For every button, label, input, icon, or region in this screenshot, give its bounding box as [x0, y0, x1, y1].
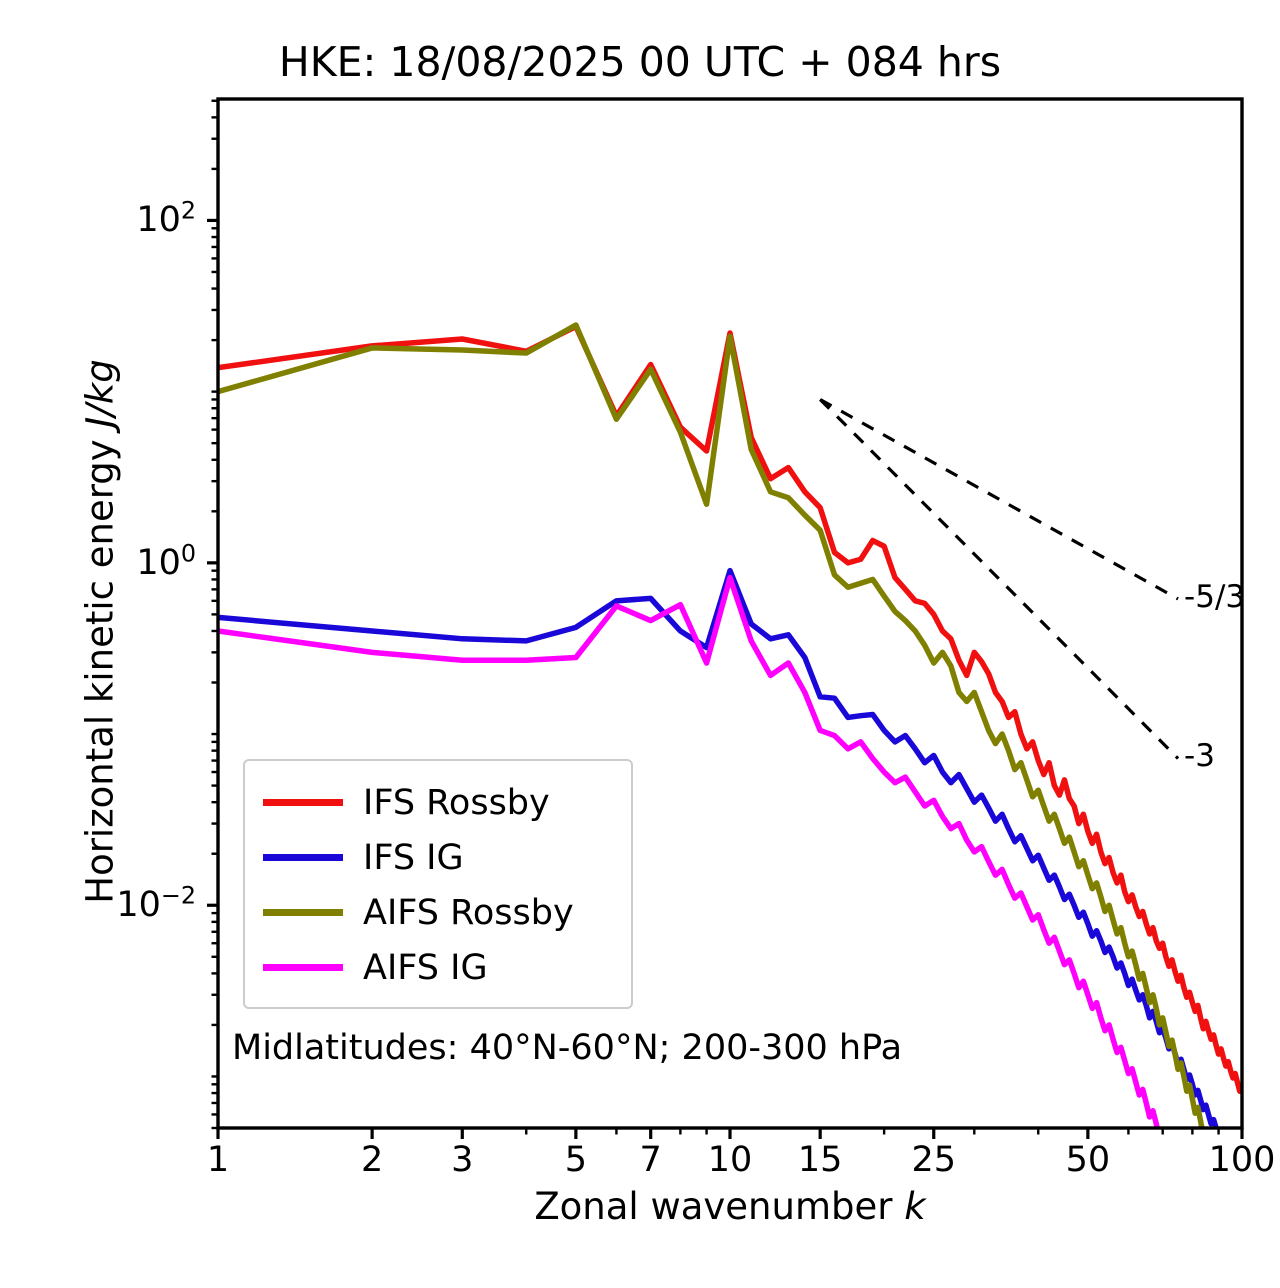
x-axis-label: Zonal wavenumber k: [218, 1185, 1242, 1228]
y-tick-label: 100: [0, 543, 196, 583]
y-tick-label: 102: [0, 200, 196, 240]
chart-figure: HKE: 18/08/2025 00 UTC + 084 hrs Horizon…: [0, 0, 1280, 1288]
x-tick-label: 2: [361, 1140, 383, 1180]
legend-item[interactable]: IFS IG: [263, 830, 613, 885]
legend-label-aifs-rossby: AIFS Rossby: [363, 893, 574, 933]
legend: IFS Rossby IFS IG AIFS Rossby AIFS IG: [243, 759, 633, 1009]
legend-label-ifs-rossby: IFS Rossby: [363, 783, 550, 823]
x-tick-label: 7: [640, 1140, 662, 1180]
x-tick-label: 25: [911, 1140, 956, 1180]
legend-swatch-ifs-rossby: [263, 799, 343, 806]
x-axis-label-symbol: k: [904, 1185, 925, 1228]
x-tick-label: 10: [708, 1140, 753, 1180]
x-tick-label: 50: [1066, 1140, 1111, 1180]
x-tick-label: 3: [451, 1140, 473, 1180]
x-axis-label-main: Zonal wavenumber: [534, 1185, 904, 1228]
legend-label-ifs-ig: IFS IG: [363, 838, 464, 878]
legend-label-aifs-ig: AIFS IG: [363, 948, 488, 988]
legend-swatch-aifs-ig: [263, 964, 343, 971]
x-tick-label: 15: [798, 1140, 843, 1180]
legend-swatch-aifs-rossby: [263, 909, 343, 916]
legend-swatch-ifs-ig: [263, 854, 343, 861]
region-annotation: Midlatitudes: 40°N-60°N; 200-300 hPa: [232, 1028, 902, 1068]
legend-item[interactable]: AIFS Rossby: [263, 885, 613, 940]
x-tick-label: 5: [565, 1140, 587, 1180]
slope-label-minus-three: -3: [1184, 738, 1215, 774]
y-axis-label-main: Horizontal kinetic energy: [79, 428, 122, 904]
x-tick-label: 100: [1209, 1140, 1276, 1180]
legend-item[interactable]: IFS Rossby: [263, 775, 613, 830]
x-tick-label: 1: [207, 1140, 229, 1180]
slope-label-five-thirds: -5/3: [1184, 579, 1245, 615]
plot-canvas: [0, 0, 1280, 1288]
legend-item[interactable]: AIFS IG: [263, 940, 613, 995]
y-tick-label: 10−2: [0, 885, 196, 925]
y-axis-label-units: J/kg: [79, 359, 122, 427]
